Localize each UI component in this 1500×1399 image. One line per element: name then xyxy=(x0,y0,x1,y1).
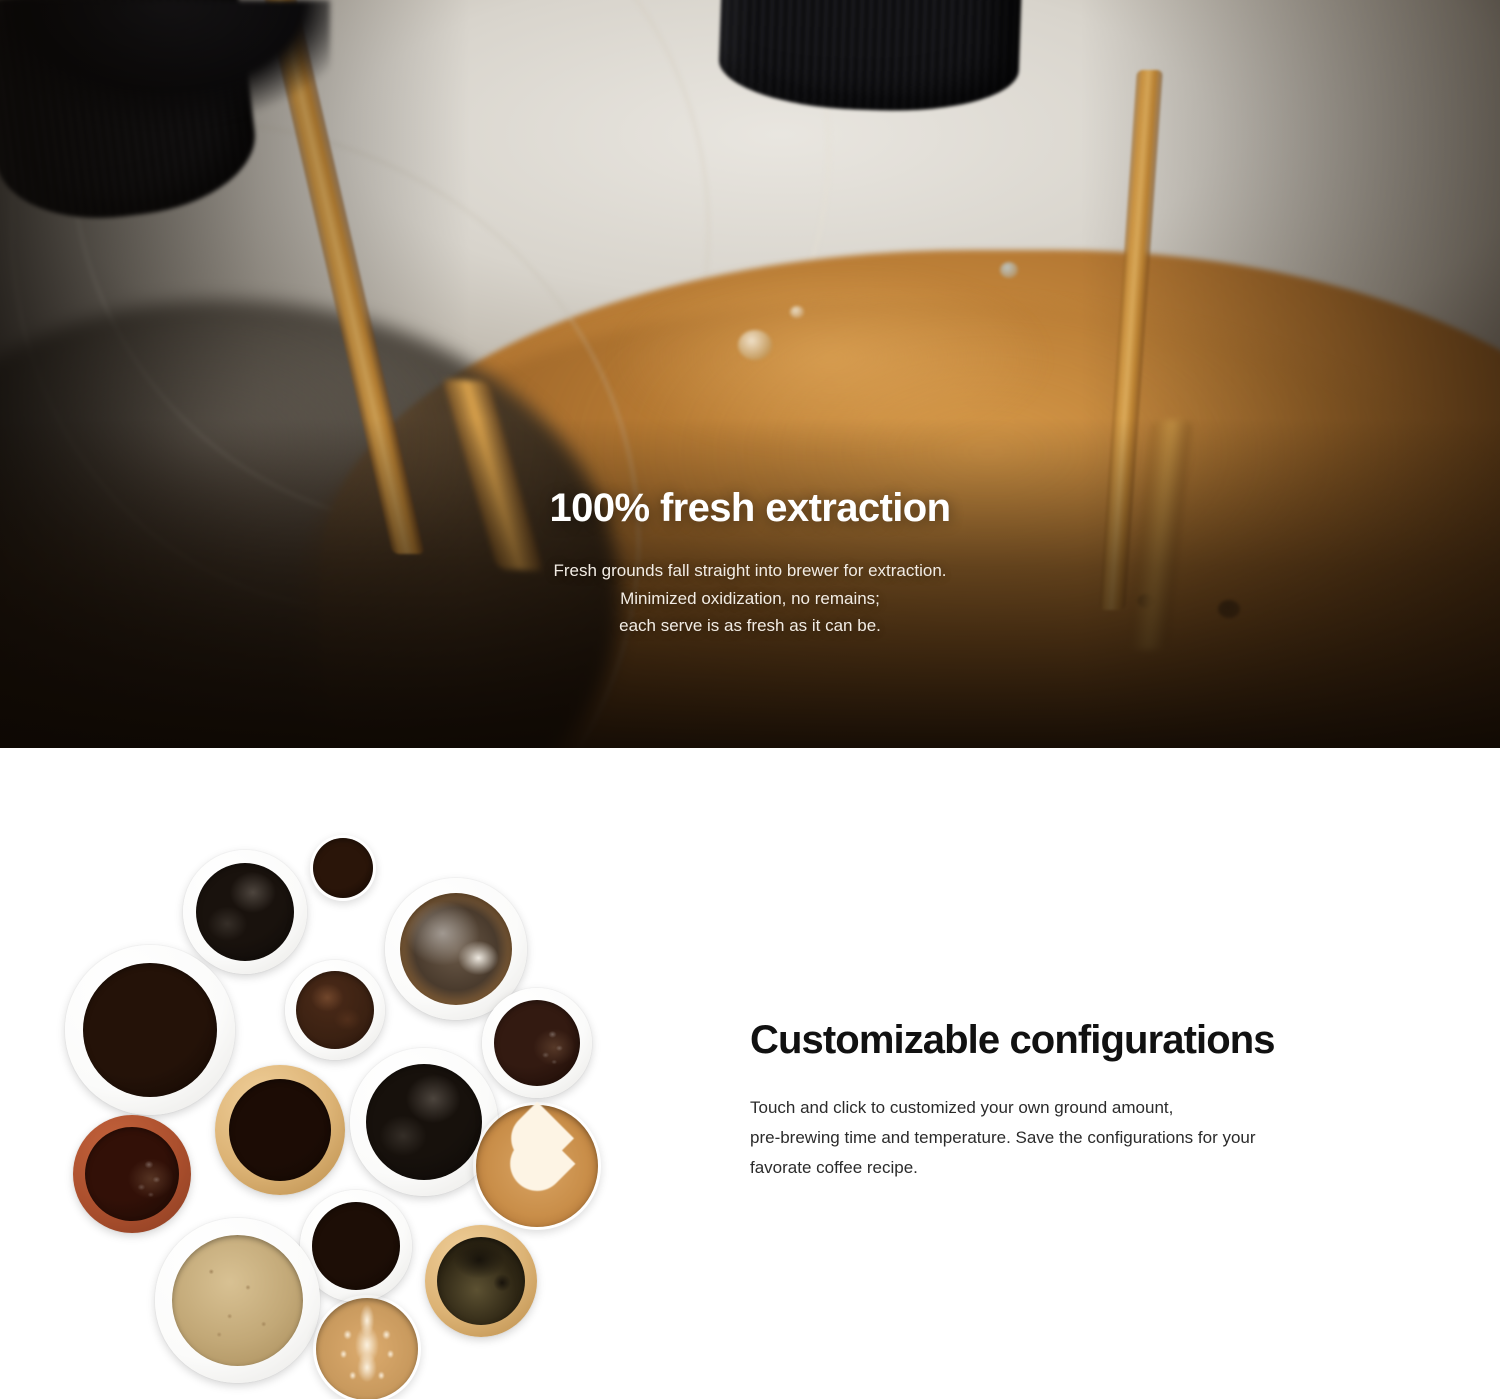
hero-section: 100% fresh extraction Fresh grounds fall… xyxy=(0,0,1500,748)
cup-large-black-left xyxy=(65,945,235,1115)
hero-subtitle-line-1: Fresh grounds fall straight into brewer … xyxy=(0,557,1500,585)
coffee-surface xyxy=(172,1235,303,1366)
feature-body-line-1: Touch and click to customized your own g… xyxy=(750,1093,1440,1123)
hero-subtitle-line-2: Minimized oxidization, no remains; xyxy=(0,585,1500,613)
coffee-surface xyxy=(83,963,217,1097)
coffee-surface xyxy=(196,863,294,961)
hero-title: 100% fresh extraction xyxy=(0,485,1500,531)
brew-spout-right-icon xyxy=(717,0,1022,115)
crema-bubble xyxy=(738,330,772,360)
coffee-surface xyxy=(296,971,374,1049)
coffee-surface xyxy=(400,893,512,1005)
coffee-surface xyxy=(437,1237,525,1325)
hero-subtitle: Fresh grounds fall straight into brewer … xyxy=(0,557,1500,640)
cup-latte-heart-right xyxy=(473,1102,601,1230)
latte-art-heart-icon xyxy=(499,1126,575,1202)
coffee-surface xyxy=(476,1105,598,1227)
feature-body-line-3: favorate coffee recipe. xyxy=(750,1153,1440,1183)
latte-art-rosetta-icon xyxy=(316,1298,418,1399)
feature-text-block: Customizable configurations Touch and cl… xyxy=(750,1018,1440,1184)
cup-terracotta-left xyxy=(73,1115,191,1233)
cup-latte-rosetta-bottom xyxy=(313,1295,421,1399)
crema-bubble xyxy=(1000,262,1018,278)
coffee-surface xyxy=(85,1127,179,1221)
coffee-surface xyxy=(312,1202,400,1290)
cup-foam-cappuccino xyxy=(155,1218,320,1383)
cup-small-dark-top xyxy=(310,835,376,901)
feature-title: Customizable configurations xyxy=(750,1018,1440,1063)
cup-olive-dark-right xyxy=(425,1225,537,1337)
cup-black-top-left xyxy=(183,850,307,974)
feature-section: Customizable configurations Touch and cl… xyxy=(0,748,1500,1399)
cup-bubbly-right xyxy=(482,988,592,1098)
feature-body-line-2: pre-brewing time and temperature. Save t… xyxy=(750,1123,1440,1153)
coffee-surface xyxy=(366,1064,482,1180)
hero-text-block: 100% fresh extraction Fresh grounds fall… xyxy=(0,485,1500,640)
cup-amber-rim-center xyxy=(215,1065,345,1195)
cup-mocha-center xyxy=(285,960,385,1060)
coffee-surface xyxy=(494,1000,580,1086)
coffee-surface xyxy=(313,838,373,898)
crema-bubble xyxy=(790,306,804,318)
coffee-cups-collage xyxy=(55,830,625,1390)
feature-body: Touch and click to customized your own g… xyxy=(750,1093,1440,1184)
hero-subtitle-line-3: each serve is as fresh as it can be. xyxy=(0,612,1500,640)
coffee-surface xyxy=(229,1079,331,1181)
product-feature-page: 100% fresh extraction Fresh grounds fall… xyxy=(0,0,1500,1399)
coffee-surface xyxy=(316,1298,418,1399)
